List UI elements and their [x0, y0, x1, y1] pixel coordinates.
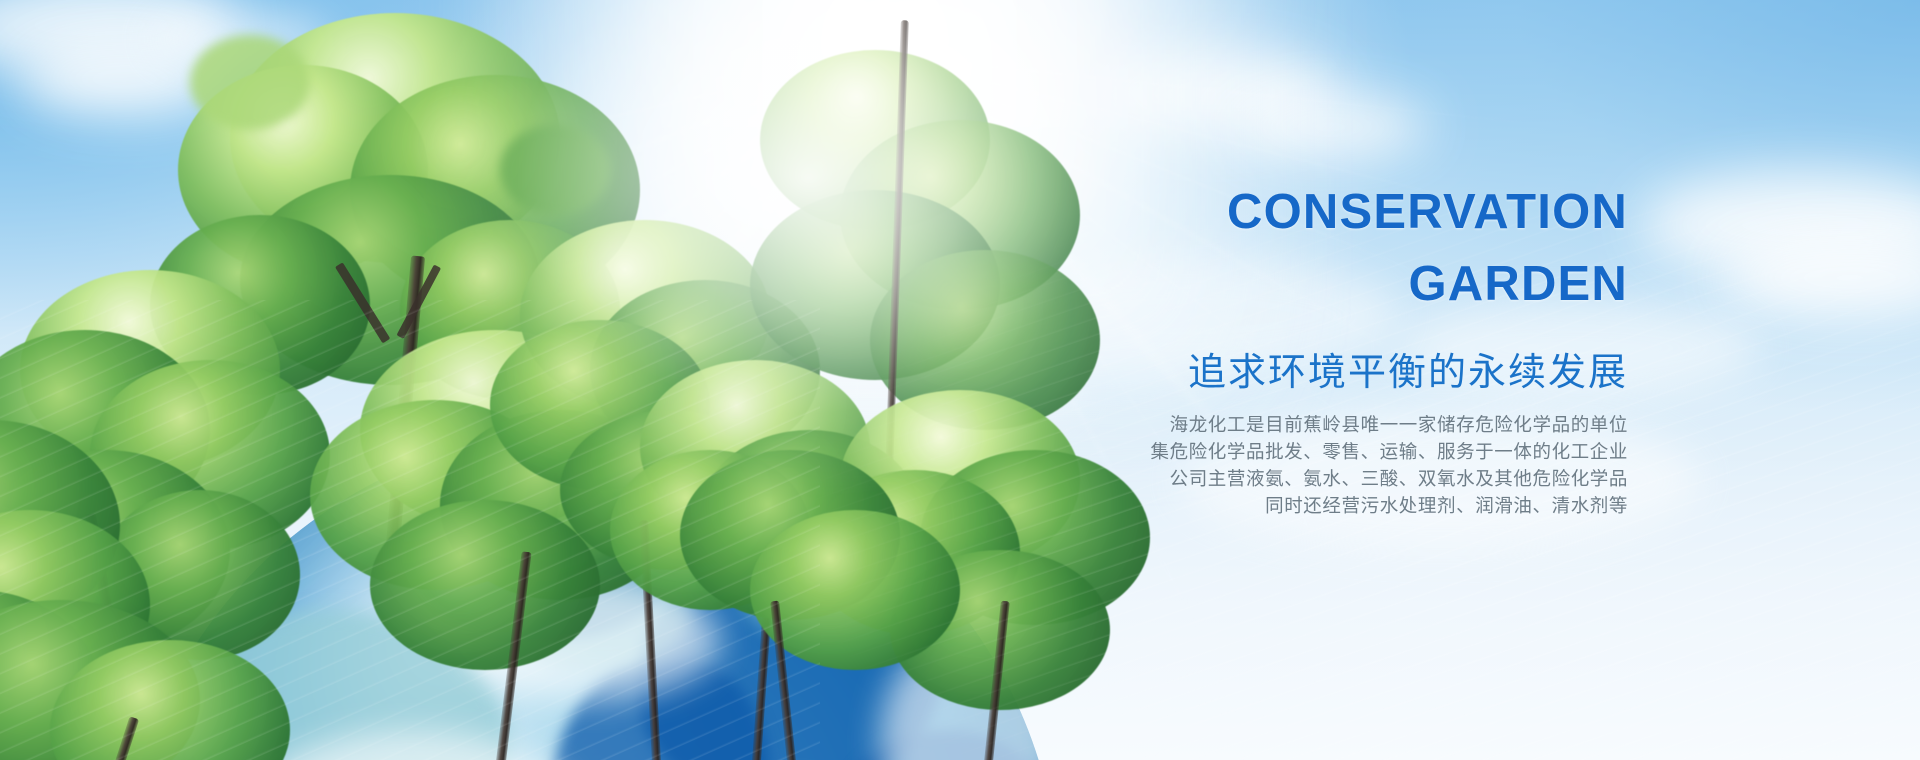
hero-banner: CONSERVATION GARDEN 追求环境平衡的永续发展 海龙化工是目前蕉… [0, 0, 1920, 760]
description-line-1: 海龙化工是目前蕉岭县唯一一家储存危险化学品的单位 [868, 412, 1628, 439]
headline-line-1: CONSERVATION [868, 176, 1628, 248]
description: 海龙化工是目前蕉岭县唯一一家储存危险化学品的单位 集危险化学品批发、零售、运输、… [868, 412, 1628, 520]
tagline: 追求环境平衡的永续发展 [868, 348, 1628, 396]
tree-foliage [500, 125, 610, 215]
description-line-4: 同时还经营污水处理剂、润滑油、清水剂等 [868, 493, 1628, 520]
page-title: CONSERVATION GARDEN [868, 176, 1628, 320]
headline-line-2: GARDEN [868, 248, 1628, 320]
description-line-3: 公司主营液氨、氨水、三酸、双氧水及其他危险化学品 [868, 466, 1628, 493]
tree-foliage [190, 35, 310, 130]
sky-striations [0, 300, 820, 760]
description-line-2: 集危险化学品批发、零售、运输、服务于一体的化工企业 [868, 439, 1628, 466]
banner-copy: CONSERVATION GARDEN 追求环境平衡的永续发展 海龙化工是目前蕉… [868, 176, 1628, 520]
